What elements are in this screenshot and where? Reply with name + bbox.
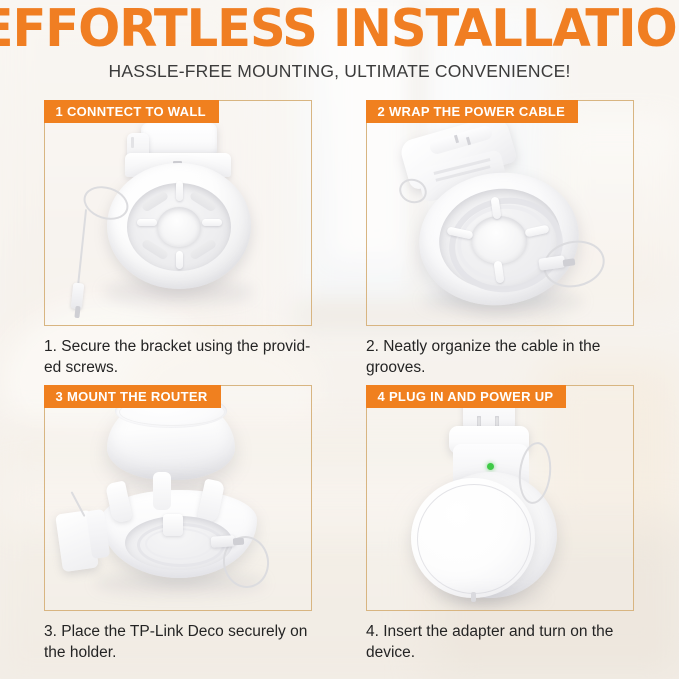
- cable-run: [77, 209, 88, 287]
- step-image-1: [45, 101, 311, 325]
- cable-plug-barrel: [74, 306, 80, 318]
- bracket-center-hole: [471, 216, 527, 264]
- step-caption-4-line1: 4. Insert the adapter and turn on the: [366, 621, 666, 642]
- page-title: EFFORTLESS INSTALLATION:: [0, 1, 679, 57]
- unit-shadow: [429, 590, 549, 606]
- power-adapter-block: [141, 123, 217, 157]
- step-image-2: [367, 101, 633, 325]
- bracket-spoke-right: [202, 219, 222, 226]
- step-image-3: [45, 386, 311, 610]
- step-caption-2-line1: 2. Neatly organize the cable in the: [366, 336, 666, 357]
- step-caption-1: 1. Secure the bracket using the provid- …: [44, 336, 344, 378]
- holder-fin-mid: [153, 472, 171, 510]
- step-panel-3: 3 MOUNT THE ROUTER: [44, 385, 312, 611]
- step-caption-1-line1: 1. Secure the bracket using the provid-: [44, 336, 344, 357]
- step-panel-2: 2 WRAP THE POWER CABLE: [366, 100, 634, 326]
- adapter-vent-slot: [131, 137, 134, 148]
- step-badge-2: 2 WRAP THE POWER CABLE: [366, 100, 579, 123]
- step-badge-1: 1 CONNTECT TO WALL: [44, 100, 219, 123]
- step-caption-2: 2. Neatly organize the cable in the groo…: [366, 336, 666, 378]
- cable-plug-body: [211, 535, 236, 548]
- step-caption-4-line2: device.: [366, 642, 666, 663]
- step-caption-1-line2: ed screws.: [44, 357, 344, 378]
- page-subtitle: HASSLE-FREE MOUNTING, ULTIMATE CONVENIEN…: [0, 61, 679, 82]
- step-caption-3: 3. Place the TP-Link Deco securely on th…: [44, 621, 344, 663]
- step-badge-4: 4 PLUG IN AND POWER UP: [366, 385, 567, 408]
- step-image-4: [367, 386, 633, 610]
- step-caption-2-line2: grooves.: [366, 357, 666, 378]
- header: EFFORTLESS INSTALLATION: HASSLE-FREE MOU…: [0, 0, 679, 92]
- bracket-spoke-top: [176, 181, 183, 201]
- cable-clip: [163, 514, 183, 536]
- deco-router-rim: [417, 484, 531, 594]
- bracket-center-hole: [157, 207, 201, 247]
- step-panel-1: 1 CONNTECT TO WALL: [44, 100, 312, 326]
- step-caption-3-line1: 3. Place the TP-Link Deco securely on: [44, 621, 344, 642]
- status-led-green: [487, 463, 494, 470]
- step-caption-4: 4. Insert the adapter and turn on the de…: [366, 621, 666, 663]
- step-caption-3-line2: the holder.: [44, 642, 344, 663]
- step-badge-3: 3 MOUNT THE ROUTER: [44, 385, 221, 408]
- step-panel-4: 4 PLUG IN AND POWER UP: [366, 385, 634, 611]
- bracket-spoke-left: [137, 219, 157, 226]
- bracket-spoke-bottom: [176, 251, 183, 269]
- cable-plug-barrel: [233, 538, 244, 546]
